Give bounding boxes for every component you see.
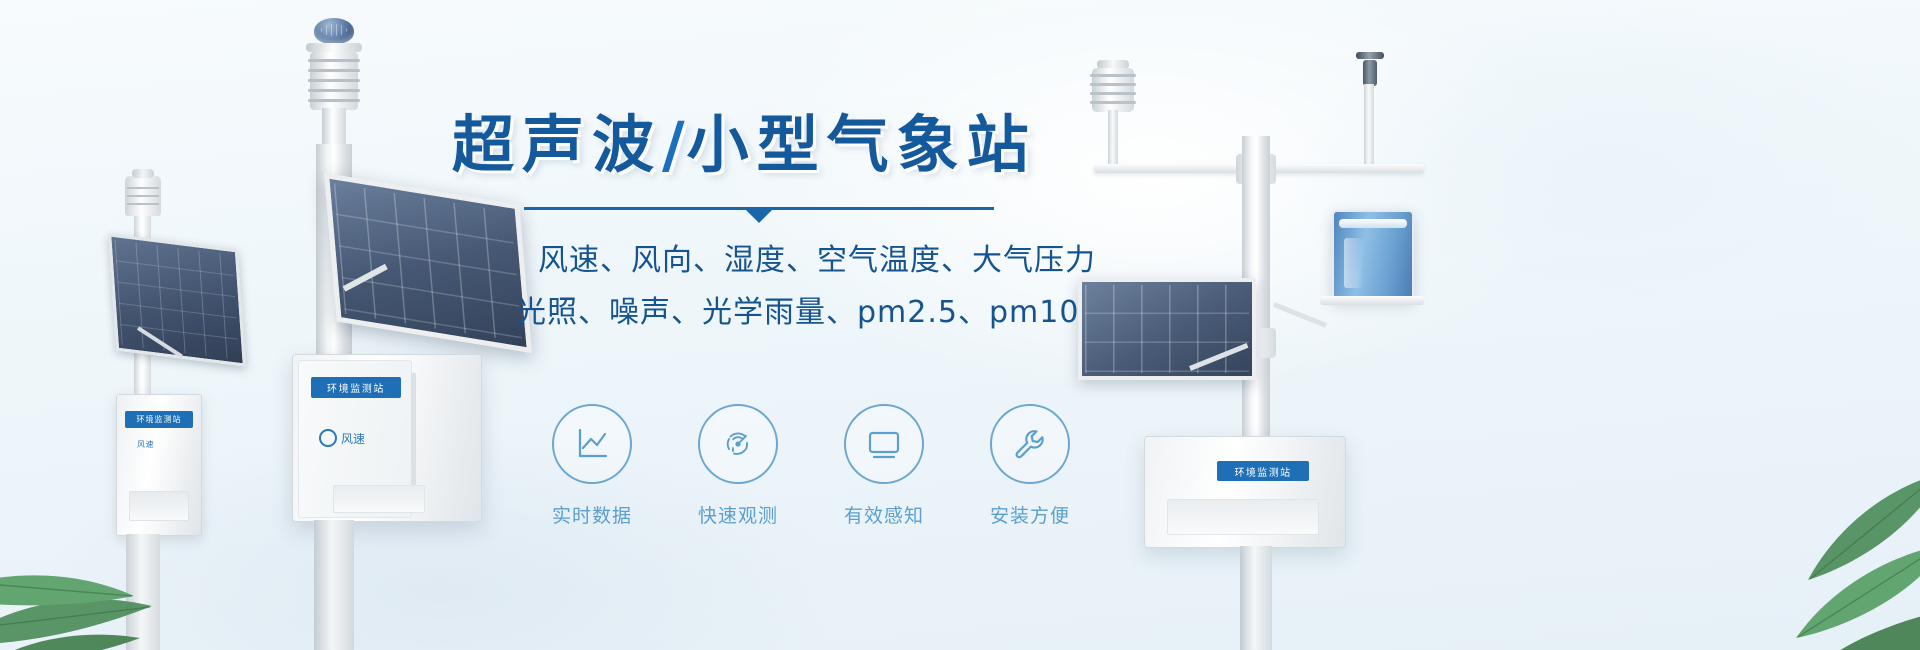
weather-station-right: 环境监测站 — [1070, 50, 1490, 650]
cabinet-vent-center — [333, 485, 425, 513]
radiation-shield-sensor-left — [125, 176, 161, 216]
feature-label-4: 安装方便 — [990, 501, 1070, 528]
product-banner: 环境监测站 风速 环境监测站 风速 — [0, 0, 1920, 650]
rain-gauge-right — [1332, 210, 1414, 300]
feature-label-2: 快速观测 — [698, 501, 778, 528]
feature-label-3: 有效感知 — [844, 501, 924, 528]
subtitle-line-2: 光照、噪声、光学雨量、pm2.5、pm10 — [452, 287, 1072, 339]
feature-list: 实时数据 快速观测 — [550, 404, 1072, 528]
brand-logo-center: 风速 — [319, 429, 365, 447]
brand-name-center: 风速 — [341, 430, 365, 447]
line-chart-icon — [572, 424, 612, 464]
feature-label-1: 实时数据 — [552, 501, 632, 528]
feature-ring-2 — [698, 404, 778, 484]
instrument-shelf-right — [1320, 296, 1424, 305]
cabinet-label-left: 环境监测站 — [125, 411, 193, 428]
mast-base-center — [314, 520, 354, 650]
monitor-icon — [864, 424, 904, 464]
sensor-neck-center — [322, 108, 346, 148]
control-cabinet-center: 环境监测站 风速 — [292, 354, 482, 522]
control-cabinet-right: 环境监测站 — [1144, 436, 1346, 548]
shelf-brace-right — [1273, 302, 1327, 328]
page-title: 超声波/小型气象站 — [452, 112, 1072, 177]
foliage-left-decoration — [0, 430, 224, 650]
feature-item-fast-observation[interactable]: 快速观测 — [696, 404, 780, 528]
title-rest: 小型气象站 — [687, 108, 1037, 181]
radar-scan-icon — [718, 424, 758, 464]
feature-ring-3 — [844, 404, 924, 484]
sensor-cap-center — [306, 43, 362, 52]
wind-vane-sensor-right — [1356, 52, 1384, 86]
feature-ring-4 — [990, 404, 1070, 484]
cabinet-label-center: 环境监测站 — [311, 377, 401, 398]
subtitle-block: 风速、风向、湿度、空气温度、大气压力 光照、噪声、光学雨量、pm2.5、pm10 — [452, 235, 1072, 338]
wind-vane-stem-right — [1364, 84, 1374, 166]
divider-line — [524, 207, 994, 210]
ultrasonic-dome-sensor — [314, 18, 354, 44]
cabinet-hinge-center — [411, 373, 416, 501]
title-separator: / — [662, 108, 687, 181]
feature-ring-1 — [552, 404, 632, 484]
feature-item-realtime-data[interactable]: 实时数据 — [550, 404, 634, 528]
shield-stem-right — [1108, 110, 1118, 166]
title-main: 超声波 — [452, 108, 662, 181]
banner-text-block: 超声波/小型气象站 风速、风向、湿度、空气温度、大气压力 光照、噪声、光学雨量、… — [452, 112, 1072, 338]
cabinet-vent-right — [1167, 499, 1319, 535]
wrench-icon — [1010, 424, 1050, 464]
radiation-shield-center — [310, 52, 358, 110]
solar-panel-right — [1078, 278, 1256, 380]
brand-mark-icon — [319, 429, 337, 447]
subtitle-line-1: 风速、风向、湿度、空气温度、大气压力 — [452, 235, 1072, 287]
radiation-shield-right — [1092, 68, 1134, 112]
title-divider — [524, 203, 994, 215]
cabinet-label-right: 环境监测站 — [1217, 461, 1309, 481]
solar-panel-left — [108, 233, 246, 366]
feature-item-easy-install[interactable]: 安装方便 — [988, 404, 1072, 528]
foliage-right-decoration — [1668, 416, 1920, 650]
feature-item-effective-sensing[interactable]: 有效感知 — [842, 404, 926, 528]
mast-base-right — [1240, 546, 1272, 650]
